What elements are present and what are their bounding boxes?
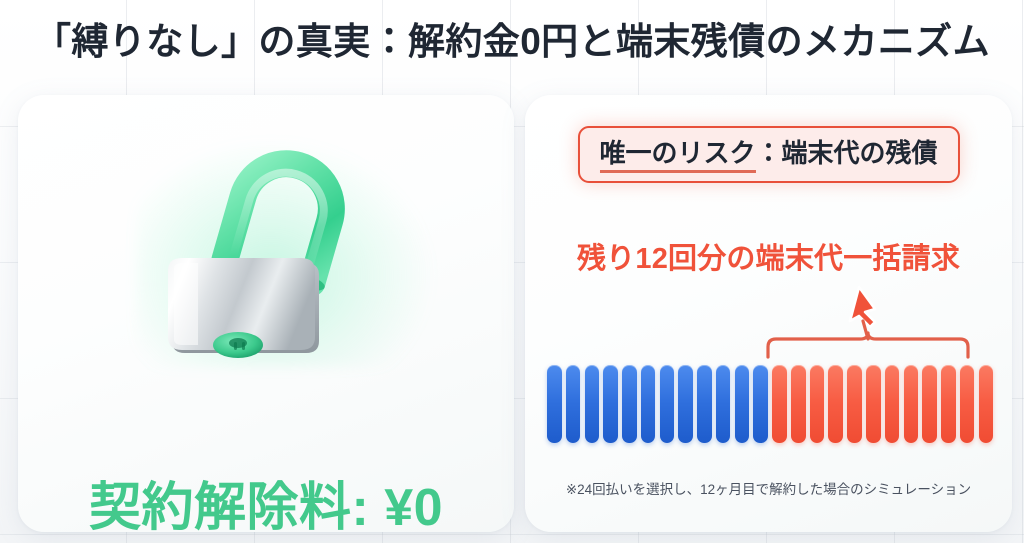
bar-due xyxy=(885,365,900,443)
bar-due xyxy=(866,365,881,443)
bar-due xyxy=(847,365,862,443)
bar-due xyxy=(922,365,937,443)
brace-with-arrow-icon xyxy=(525,281,1012,363)
bar-paid xyxy=(678,365,693,443)
bar-paid xyxy=(547,365,562,443)
bar-paid xyxy=(566,365,581,443)
bar-paid xyxy=(622,365,637,443)
bar-due xyxy=(772,365,787,443)
bar-due xyxy=(791,365,806,443)
bar-due xyxy=(979,365,994,443)
cancellation-fee-headline: 契約解除料: ¥0 xyxy=(18,477,514,539)
brace-annotation xyxy=(525,281,1012,363)
bar-due xyxy=(810,365,825,443)
bar-paid xyxy=(716,365,731,443)
risk-badge-label: 唯一のリスク：端末代の残債 xyxy=(599,138,937,173)
risk-badge-underlined: 唯一のリスク xyxy=(599,138,755,173)
bar-paid xyxy=(603,365,618,443)
bar-due xyxy=(960,365,975,443)
page-title: 「縛りなし」の真実：解約金0円と端末残債のメカニズム xyxy=(0,16,1024,68)
bar-paid xyxy=(660,365,675,443)
bar-due xyxy=(941,365,956,443)
bar-paid xyxy=(585,365,600,443)
padlock-illustration xyxy=(18,103,514,373)
chart-footnote: ※24回払いを選択し、12ヶ月目で解約した場合のシミュレーション xyxy=(525,481,1012,499)
bar-paid xyxy=(735,365,750,443)
risk-badge: 唯一のリスク：端末代の残債 xyxy=(577,126,959,183)
bar-paid xyxy=(697,365,712,443)
card-no-cancellation-fee: 契約解除料: ¥0 いつ解約してもペナルティなし xyxy=(18,95,514,532)
risk-badge-rest: ：端末代の残債 xyxy=(756,138,938,168)
installment-bar-chart xyxy=(547,365,993,443)
bar-due xyxy=(904,365,919,443)
remaining-payments-callout: 残り12回分の端末代一括請求 xyxy=(525,241,1012,277)
bar-paid xyxy=(641,365,656,443)
open-padlock-icon xyxy=(138,123,400,373)
bar-due xyxy=(828,365,843,443)
card-device-debt-risk: 唯一のリスク：端末代の残債 残り12回分の端末代一括請求 ※24回払いを選択し、… xyxy=(525,95,1012,532)
bar-paid xyxy=(753,365,768,443)
